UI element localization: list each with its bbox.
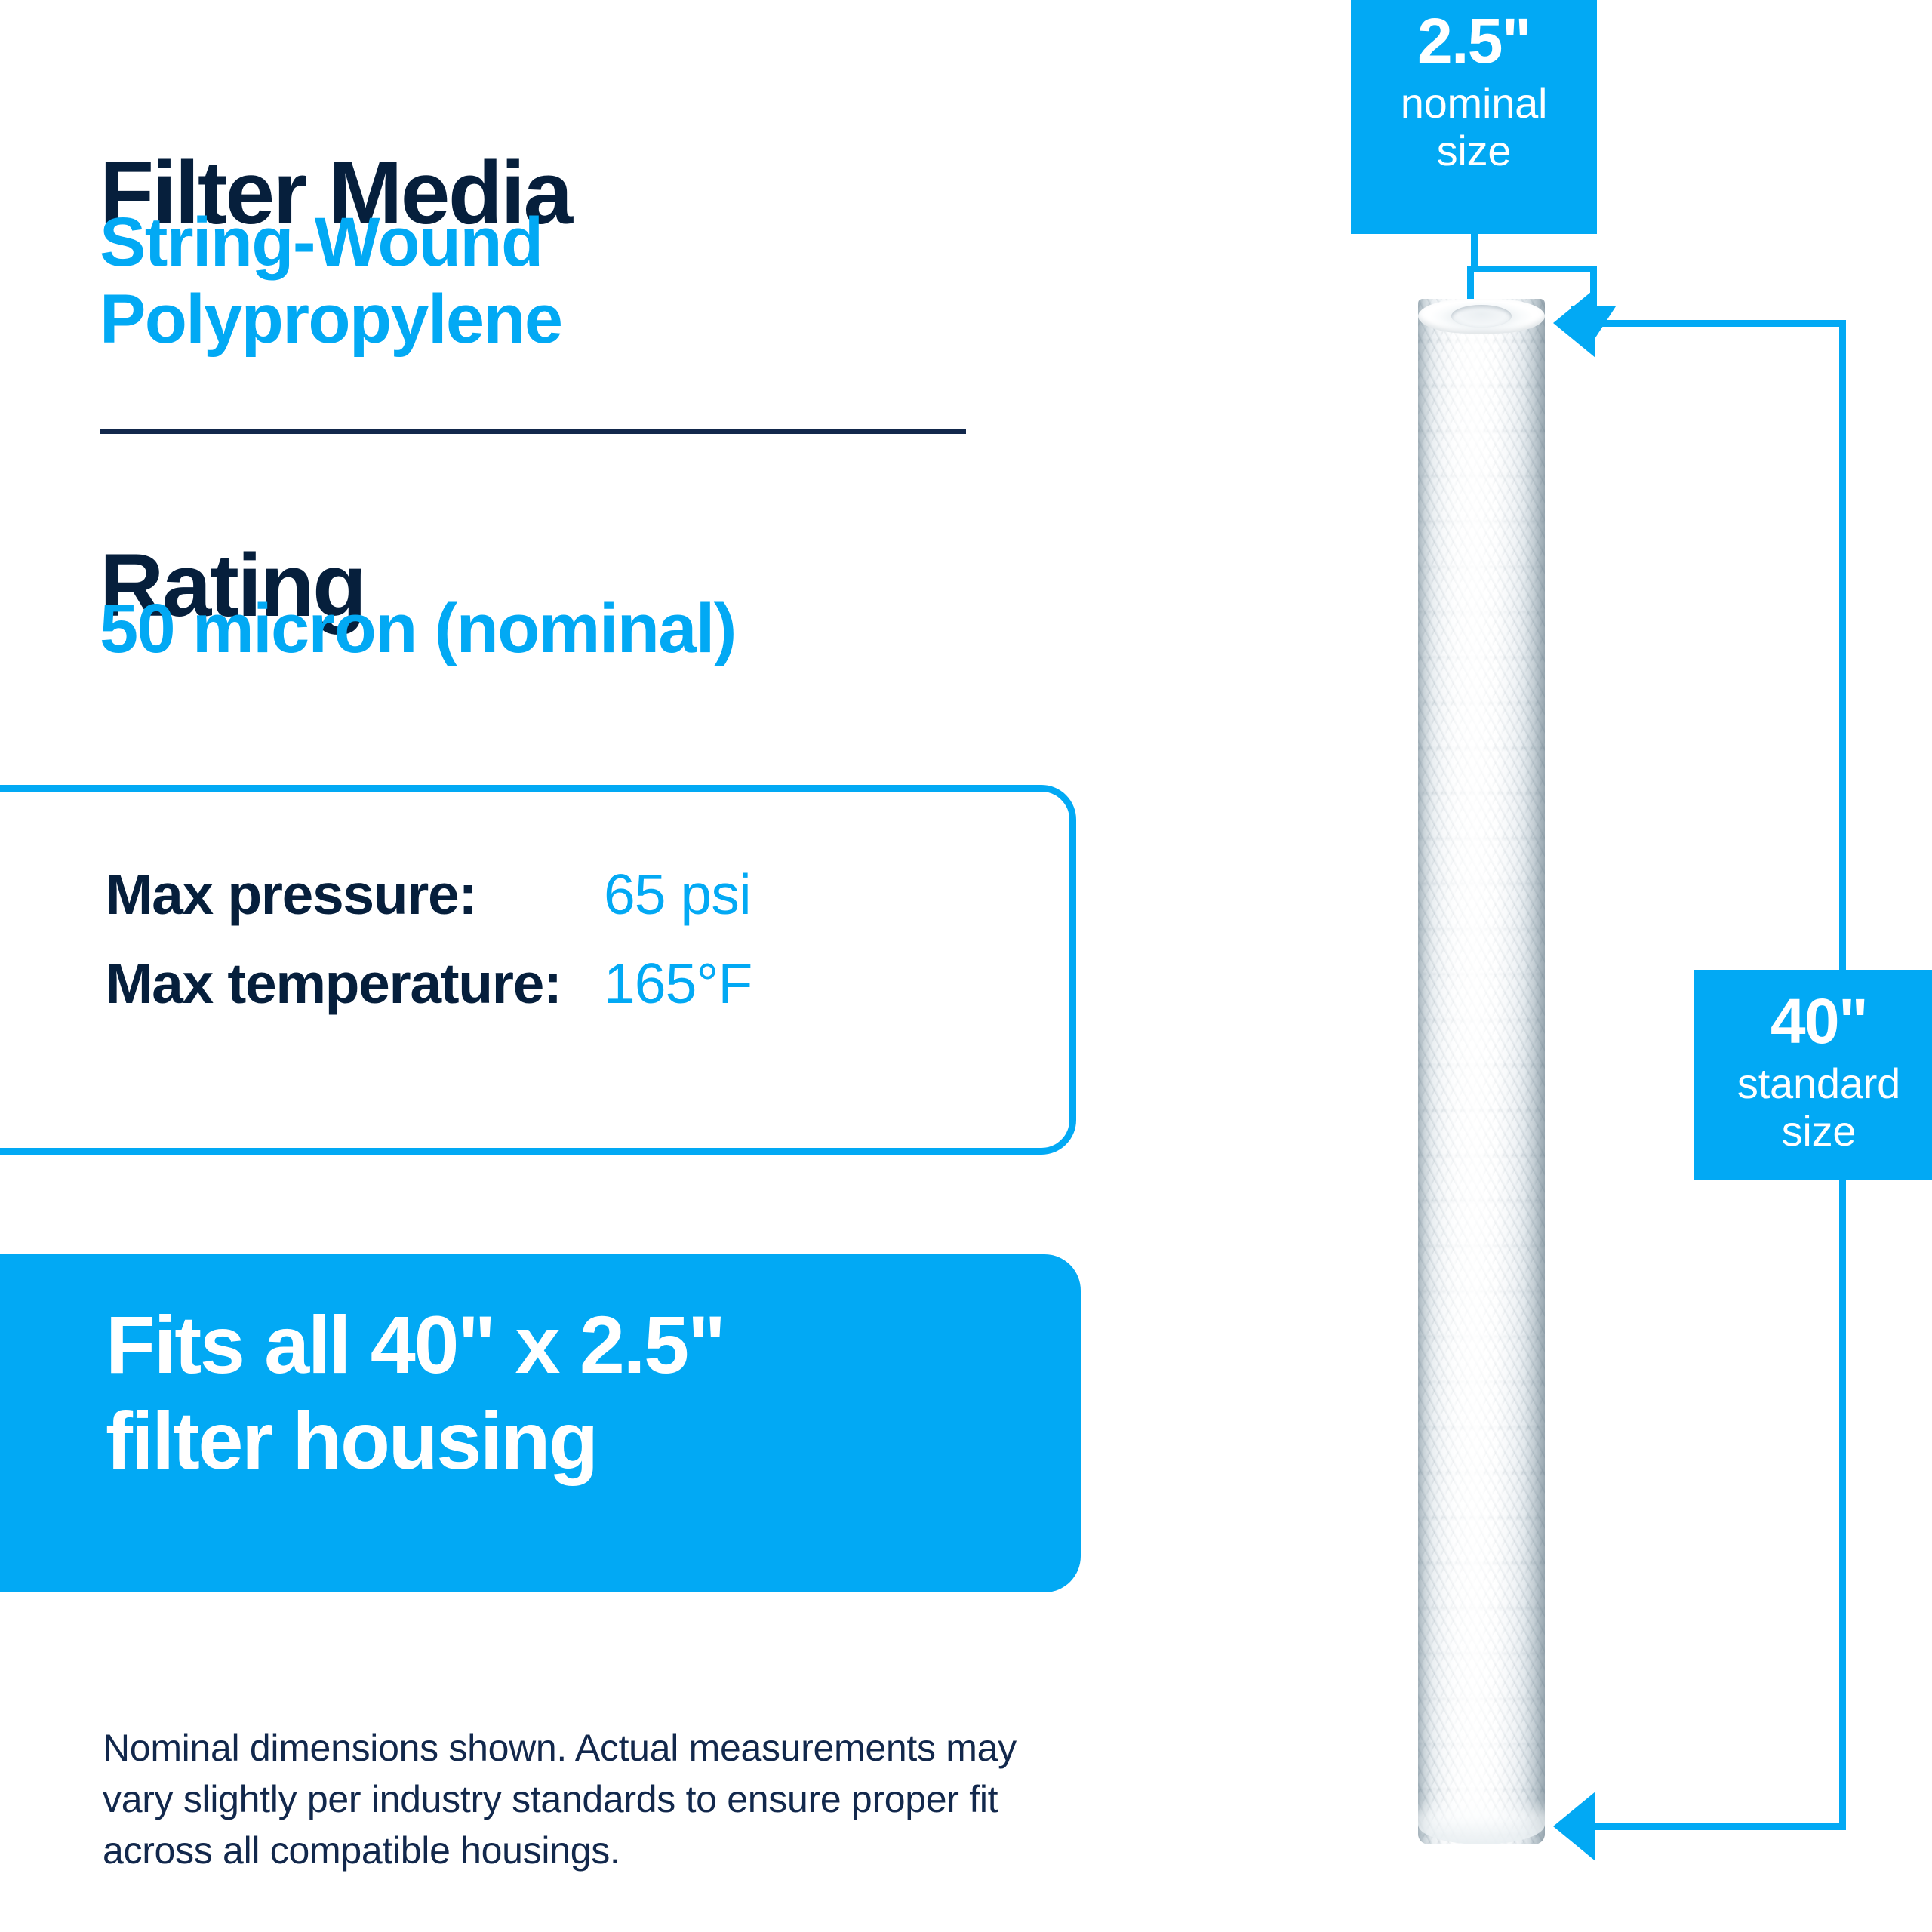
length-dimension-bottom-line xyxy=(1595,1823,1846,1830)
diameter-badge-caption-line1: nominal xyxy=(1401,79,1548,127)
length-badge: 40" standard size xyxy=(1694,970,1932,1180)
diameter-badge-caption-line2: size xyxy=(1437,127,1512,174)
length-badge-value: 40" xyxy=(1694,989,1932,1053)
cartridge-bottom-cap xyxy=(1418,1799,1545,1844)
filter-cartridge-image xyxy=(1418,299,1545,1844)
spec-label-max-temperature: Max temperature: xyxy=(106,951,604,1016)
product-dimension-column: 2.5" nominal size 40" standard size xyxy=(1132,0,1932,1932)
compatibility-callout-line2: filter housing xyxy=(106,1392,1034,1488)
string-winding-texture xyxy=(1418,299,1545,1844)
spec-value-max-pressure: 65 psi xyxy=(604,862,751,927)
length-badge-caption-line1: standard xyxy=(1737,1060,1900,1107)
filter-media-value-line2: Polypropylene xyxy=(100,281,779,358)
spec-row-max-temperature: Max temperature: 165°F xyxy=(106,951,974,1040)
cartridge-core-hole xyxy=(1451,305,1512,328)
length-arrow-top-icon xyxy=(1553,288,1595,358)
diameter-badge-caption: nominal size xyxy=(1351,80,1597,174)
cartridge-body xyxy=(1418,299,1545,1844)
diameter-badge-value: 2.5" xyxy=(1351,9,1597,72)
length-badge-caption-line2: size xyxy=(1782,1107,1857,1155)
compatibility-callout-text: Fits all 40" x 2.5" filter housing xyxy=(106,1297,1034,1489)
length-badge-caption: standard size xyxy=(1694,1060,1932,1155)
specification-rows: Max pressure: 65 psi Max temperature: 16… xyxy=(106,862,974,1040)
spec-value-max-temperature: 165°F xyxy=(604,951,752,1016)
spec-label-max-pressure: Max pressure: xyxy=(106,862,604,927)
diameter-bracket-stem xyxy=(1471,234,1478,270)
left-content-column: Filter Media String-Wound Polypropylene … xyxy=(0,0,1132,1932)
filter-media-value-line1: String-Wound xyxy=(100,204,779,281)
length-dimension-top-line xyxy=(1595,320,1846,327)
diameter-bracket-crossbar xyxy=(1467,266,1597,272)
length-arrow-bottom-icon xyxy=(1553,1792,1595,1861)
filter-media-value: String-Wound Polypropylene xyxy=(100,204,779,358)
infographic-canvas: Filter Media String-Wound Polypropylene … xyxy=(0,0,1932,1932)
compatibility-callout-line1: Fits all 40" x 2.5" xyxy=(106,1297,1034,1392)
spec-row-max-pressure: Max pressure: 65 psi xyxy=(106,862,974,951)
disclaimer-text: Nominal dimensions shown. Actual measure… xyxy=(103,1722,1084,1876)
section-divider xyxy=(100,429,966,434)
diameter-badge: 2.5" nominal size xyxy=(1351,0,1597,234)
rating-value: 50 micron (nominal) xyxy=(100,590,1005,667)
